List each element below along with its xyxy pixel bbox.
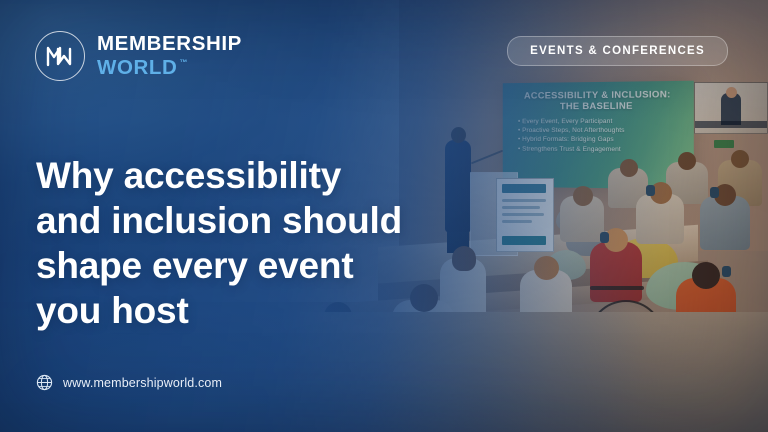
headline-line-2: and inclusion should	[36, 198, 466, 243]
brand-name-line2: WORLD™	[97, 58, 242, 79]
page-title: Why accessibility and inclusion should s…	[36, 153, 466, 333]
headline-line-3: shape every event	[36, 243, 466, 288]
mw-monogram-icon	[35, 31, 85, 81]
brand-logo[interactable]: MEMBERSHIP WORLD™	[35, 31, 242, 81]
event-banner: ACCESSIBILITY & INCLUSION: THE BASELINE …	[0, 0, 768, 432]
brand-name-line1: MEMBERSHIP	[97, 34, 242, 55]
category-badge[interactable]: EVENTS & CONFERENCES	[507, 36, 728, 66]
category-badge-label: EVENTS & CONFERENCES	[530, 45, 705, 57]
trademark-symbol: ™	[179, 59, 188, 67]
brand-wordmark: MEMBERSHIP WORLD™	[97, 34, 242, 78]
headline-line-1: Why accessibility	[36, 153, 466, 198]
banner-content: MEMBERSHIP WORLD™ EVENTS & CONFERENCES W…	[0, 0, 768, 432]
globe-icon	[36, 374, 53, 391]
website-url-label: www.membershipworld.com	[63, 376, 222, 390]
headline-line-4: you host	[36, 288, 466, 333]
website-link[interactable]: www.membershipworld.com	[36, 374, 222, 391]
